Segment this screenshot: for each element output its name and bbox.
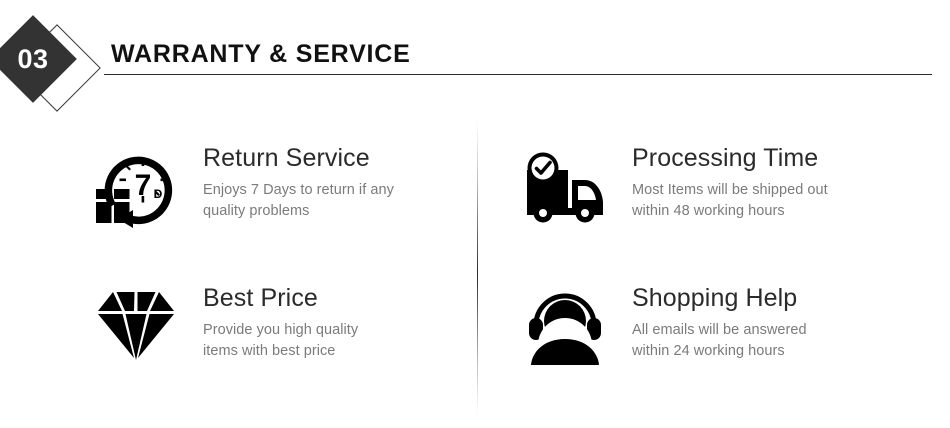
feature-item-return-service: 7 D Return Service Enjoys 7 Days to retu… xyxy=(93,142,394,228)
header-divider-rule xyxy=(104,74,932,75)
section-header: 03 WARRANTY & SERVICE xyxy=(0,0,950,130)
feature-item-processing-time: Processing Time Most Items will be shipp… xyxy=(522,142,828,228)
feature-text-block: Best Price Provide you high quality item… xyxy=(179,282,358,362)
feature-item-best-price: Best Price Provide you high quality item… xyxy=(93,282,358,368)
feature-description-line2: items with best price xyxy=(203,341,358,362)
diamond-gem-icon xyxy=(93,282,179,368)
feature-description-line1: All emails will be answered xyxy=(632,320,807,341)
page-title: WARRANTY & SERVICE xyxy=(111,40,411,69)
delivery-truck-check-icon xyxy=(522,142,608,228)
feature-description: All emails will be answered within 24 wo… xyxy=(632,320,807,362)
feature-description-line2: within 24 working hours xyxy=(632,341,807,362)
feature-description-line2: within 48 working hours xyxy=(632,201,828,222)
support-agent-headset-icon xyxy=(522,282,608,368)
feature-description: Provide you high quality items with best… xyxy=(203,320,358,362)
return-7-days-icon: 7 D xyxy=(93,142,179,228)
feature-description-line2: quality problems xyxy=(203,201,394,222)
feature-description: Enjoys 7 Days to return if any quality p… xyxy=(203,180,394,222)
feature-title: Shopping Help xyxy=(632,284,807,313)
feature-item-shopping-help: Shopping Help All emails will be answere… xyxy=(522,282,807,368)
feature-text-block: Return Service Enjoys 7 Days to return i… xyxy=(179,142,394,222)
feature-title: Processing Time xyxy=(632,144,828,173)
feature-description-line1: Most Items will be shipped out xyxy=(632,180,828,201)
feature-title: Return Service xyxy=(203,144,394,173)
section-number-badge: 03 xyxy=(0,25,120,125)
badge-number-label: 03 xyxy=(2,28,64,90)
feature-description-line1: Provide you high quality xyxy=(203,320,358,341)
feature-title: Best Price xyxy=(203,284,358,313)
svg-text:D: D xyxy=(154,187,163,201)
feature-grid: 7 D Return Service Enjoys 7 Days to retu… xyxy=(0,130,950,420)
feature-description: Most Items will be shipped out within 48… xyxy=(632,180,828,222)
svg-text:7: 7 xyxy=(135,169,152,202)
feature-text-block: Shopping Help All emails will be answere… xyxy=(608,282,807,362)
feature-text-block: Processing Time Most Items will be shipp… xyxy=(608,142,828,222)
feature-description-line1: Enjoys 7 Days to return if any xyxy=(203,180,394,201)
